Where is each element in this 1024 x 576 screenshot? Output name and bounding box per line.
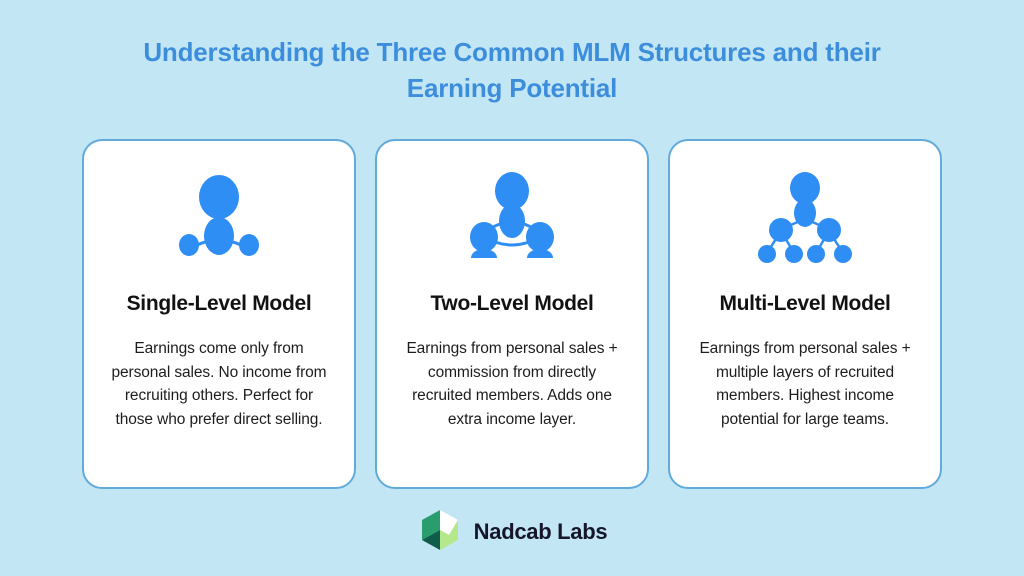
card-heading: Multi-Level Model	[719, 291, 890, 317]
two-level-network-icon	[457, 169, 567, 269]
card-heading: Two-Level Model	[430, 291, 593, 317]
single-level-network-icon	[164, 169, 274, 269]
card-body-text: Earnings come only from personal sales. …	[102, 337, 336, 431]
card-single-level-model[interactable]: Single-Level Model Earnings come only fr…	[82, 139, 356, 489]
model-cards-row: Single-Level Model Earnings come only fr…	[82, 139, 942, 489]
card-heading: Single-Level Model	[127, 291, 312, 317]
card-multi-level-model[interactable]: Multi-Level Model Earnings from personal…	[668, 139, 942, 489]
footer-branding: Nadcab Labs	[0, 508, 1024, 556]
card-two-level-model[interactable]: Two-Level Model Earnings from personal s…	[375, 139, 649, 489]
multi-level-network-icon	[750, 169, 860, 269]
card-body-text: Earnings from personal sales + commissio…	[395, 337, 629, 431]
nadcab-cube-logo-icon	[417, 508, 463, 557]
card-body-text: Earnings from personal sales + multiple …	[688, 337, 922, 431]
brand-name: Nadcab Labs	[474, 519, 608, 545]
page-title: Understanding the Three Common MLM Struc…	[0, 34, 1024, 106]
